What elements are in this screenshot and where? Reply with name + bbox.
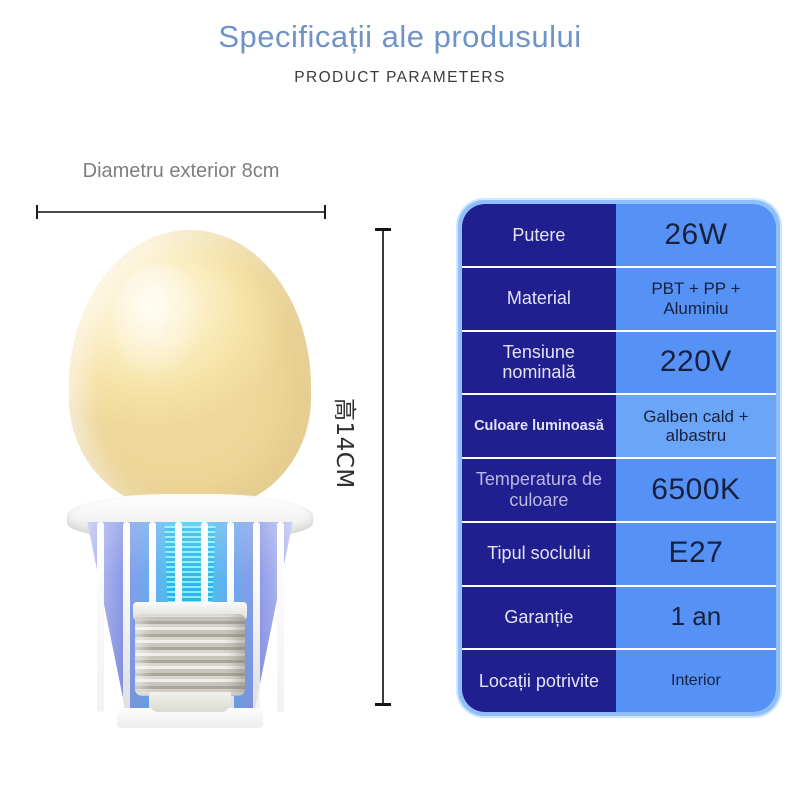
spec-value-tensiune-nominala: 220V	[616, 332, 776, 394]
table-row: Putere 26W	[462, 204, 776, 268]
bulb-highlight	[113, 264, 209, 384]
spec-value-temperatura-de-culoare: 6500K	[616, 459, 776, 521]
page-subtitle: PRODUCT PARAMETERS	[0, 69, 800, 87]
diameter-label: Diametru exterior 8cm	[36, 160, 326, 183]
dimension-cap-bottom	[375, 703, 391, 706]
height-dimension-line	[375, 228, 391, 706]
spec-value-putere: 26W	[616, 204, 776, 266]
spec-value-tipul-soclului: E27	[616, 523, 776, 585]
table-row: Temperatura de culoare 6500K	[462, 459, 776, 523]
e27-screw-base	[135, 614, 245, 696]
diameter-dimension-line	[36, 205, 326, 219]
spec-key-material: Material	[462, 268, 616, 330]
dimension-cap-right	[324, 205, 326, 219]
table-row: Culoare luminoasă Galben cald + albastru	[462, 395, 776, 459]
spec-value-garantie: 1 an	[616, 587, 776, 649]
table-row: Tipul soclului E27	[462, 523, 776, 587]
spec-table: Putere 26W Material PBT + PP + Aluminiu …	[462, 204, 776, 712]
spec-value-material: PBT + PP + Aluminiu	[616, 268, 776, 330]
spec-table-container: Putere 26W Material PBT + PP + Aluminiu …	[458, 200, 780, 716]
spec-key-temperatura-de-culoare: Temperatura de culoare	[462, 459, 616, 521]
dimension-line-bar	[382, 228, 384, 706]
table-row: Garanție 1 an	[462, 587, 776, 651]
spec-key-tensiune-nominala: Tensiune nominală	[462, 332, 616, 394]
dimension-cap-top	[375, 228, 391, 231]
page-header: Specificații ale produsului PRODUCT PARA…	[0, 18, 800, 87]
screw-base-tip	[149, 692, 231, 712]
table-row: Material PBT + PP + Aluminiu	[462, 268, 776, 332]
bulb-dome	[69, 230, 311, 510]
dimension-cap-left	[36, 205, 38, 219]
table-row: Locații potrivite Interior	[462, 650, 776, 712]
dimension-line-bar	[36, 211, 326, 213]
spec-value-culoare-luminoasa: Galben cald + albastru	[616, 395, 776, 457]
spec-value-locatii-potrivite: Interior	[616, 650, 776, 712]
product-image-bulb	[55, 222, 325, 702]
spec-key-putere: Putere	[462, 204, 616, 266]
table-row: Tensiune nominală 220V	[462, 332, 776, 396]
spec-key-locatii-potrivite: Locații potrivite	[462, 650, 616, 712]
height-label: 高14CM	[330, 398, 364, 489]
spec-key-culoare-luminoasa: Culoare luminoasă	[462, 395, 616, 457]
spec-key-tipul-soclului: Tipul soclului	[462, 523, 616, 585]
spec-key-garantie: Garanție	[462, 587, 616, 649]
page-title: Specificații ale produsului	[0, 18, 800, 55]
